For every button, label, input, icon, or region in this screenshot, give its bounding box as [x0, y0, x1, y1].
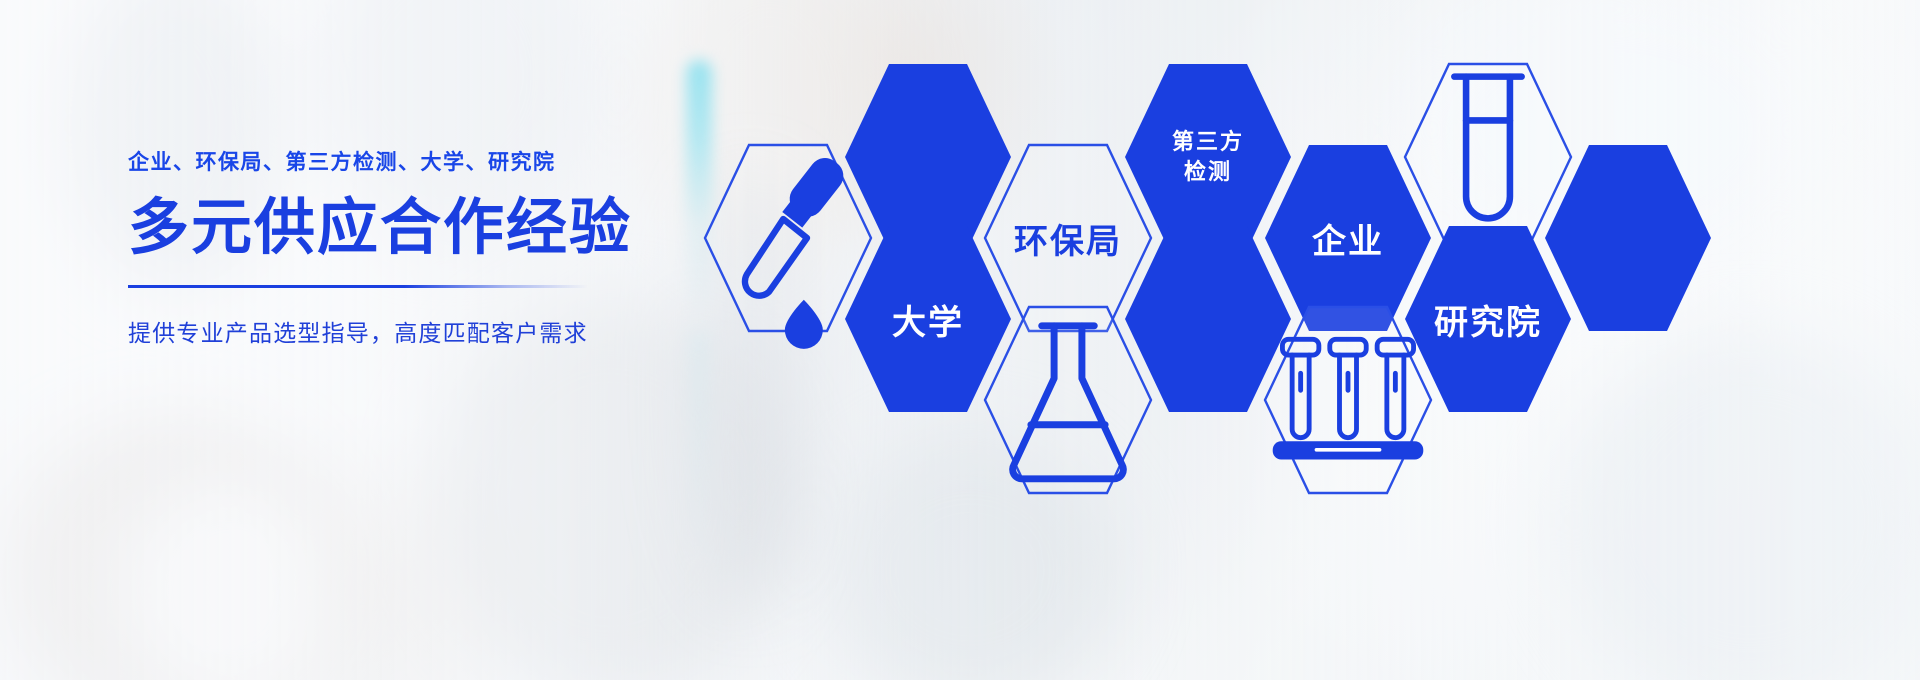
hexagon-cluster: 大学 环保局 第三方检测 — [0, 0, 1920, 680]
hexagon-fill-shape — [1543, 143, 1713, 333]
hexagon-blank-right[interactable] — [1543, 143, 1713, 333]
promo-banner: 企业、环保局、第三方检测、大学、研究院 多元供应合作经验 提供专业产品选型指导，… — [0, 0, 1920, 680]
